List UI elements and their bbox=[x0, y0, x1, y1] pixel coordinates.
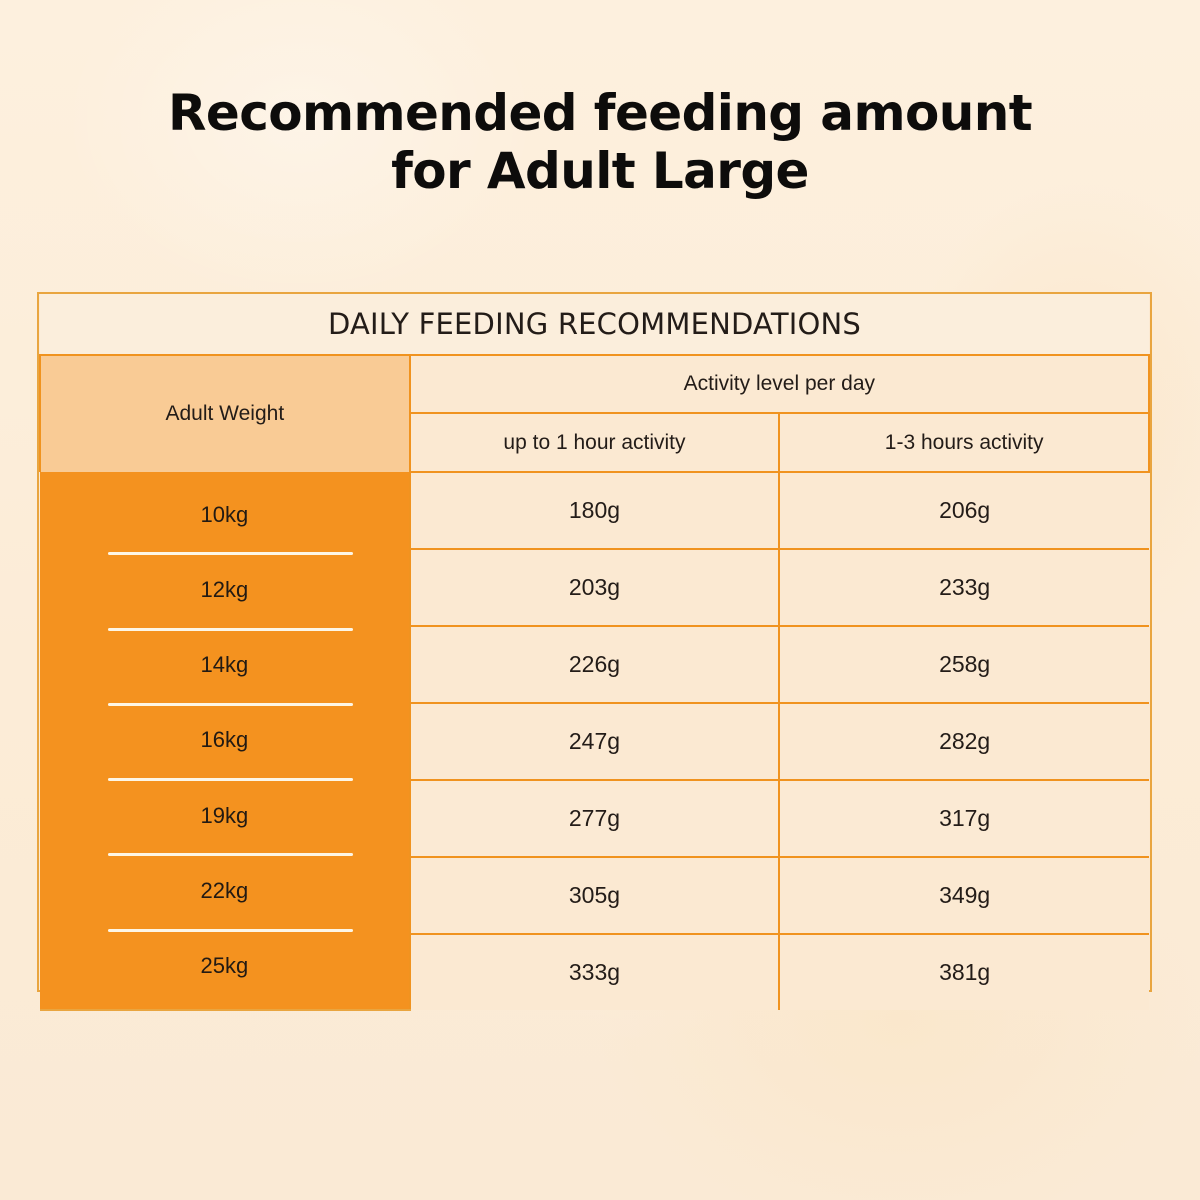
cell-1-3h-5: 349g bbox=[779, 857, 1149, 934]
feeding-table-container: DAILY FEEDING RECOMMENDATIONS Adult Weig… bbox=[37, 292, 1152, 992]
weight-value-0: 10kg bbox=[40, 477, 409, 552]
table-header-row-group: Adult Weight Activity level per day bbox=[40, 355, 1149, 413]
cell-up-to-1h-1: 203g bbox=[410, 549, 780, 626]
poster-canvas: Recommended feeding amount for Adult Lar… bbox=[0, 0, 1200, 1200]
column-group-header-activity-level: Activity level per day bbox=[410, 355, 1149, 413]
feeding-table: DAILY FEEDING RECOMMENDATIONS Adult Weig… bbox=[39, 294, 1150, 1011]
adult-weight-list: 10kg 12kg 14kg 16kg 19kg 22kg 25kg bbox=[40, 477, 409, 1004]
weight-value-2: 14kg bbox=[40, 628, 409, 703]
cell-1-3h-2: 258g bbox=[779, 626, 1149, 703]
cell-up-to-1h-5: 305g bbox=[410, 857, 780, 934]
cell-up-to-1h-2: 226g bbox=[410, 626, 780, 703]
column-header-adult-weight: Adult Weight bbox=[40, 355, 410, 472]
table-banner-title: DAILY FEEDING RECOMMENDATIONS bbox=[40, 294, 1149, 355]
weight-value-1: 12kg bbox=[40, 552, 409, 627]
cell-up-to-1h-0: 180g bbox=[410, 472, 780, 549]
cell-1-3h-4: 317g bbox=[779, 780, 1149, 857]
weight-value-4: 19kg bbox=[40, 778, 409, 853]
page-title-line-2: for Adult Large bbox=[0, 142, 1200, 200]
adult-weight-column: 10kg 12kg 14kg 16kg 19kg 22kg 25kg bbox=[40, 472, 410, 1010]
table-banner-row: DAILY FEEDING RECOMMENDATIONS bbox=[40, 294, 1149, 355]
page-title: Recommended feeding amount for Adult Lar… bbox=[0, 84, 1200, 200]
cell-1-3h-0: 206g bbox=[779, 472, 1149, 549]
table-row: 10kg 12kg 14kg 16kg 19kg 22kg 25kg 180g … bbox=[40, 472, 1149, 549]
cell-up-to-1h-4: 277g bbox=[410, 780, 780, 857]
cell-1-3h-6: 381g bbox=[779, 934, 1149, 1010]
cell-1-3h-1: 233g bbox=[779, 549, 1149, 626]
cell-1-3h-3: 282g bbox=[779, 703, 1149, 780]
column-header-1-3-hours: 1-3 hours activity bbox=[779, 413, 1149, 472]
weight-value-3: 16kg bbox=[40, 703, 409, 778]
cell-up-to-1h-6: 333g bbox=[410, 934, 780, 1010]
page-title-line-1: Recommended feeding amount bbox=[168, 84, 1032, 142]
weight-value-6: 25kg bbox=[40, 929, 409, 1004]
cell-up-to-1h-3: 247g bbox=[410, 703, 780, 780]
weight-value-5: 22kg bbox=[40, 853, 409, 928]
column-header-up-to-1-hour: up to 1 hour activity bbox=[410, 413, 780, 472]
